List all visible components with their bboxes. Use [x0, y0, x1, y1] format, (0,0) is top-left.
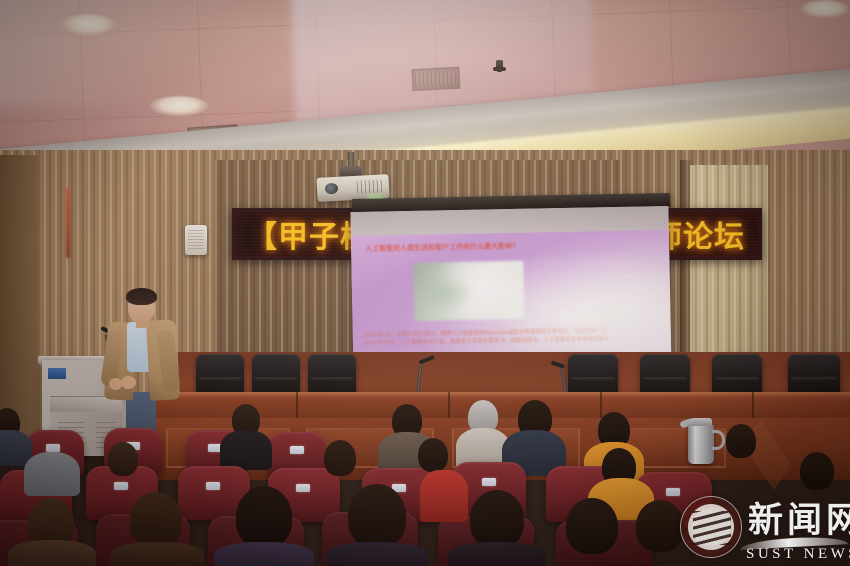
thermos-lid	[690, 418, 712, 426]
speaker-hand-right	[121, 376, 136, 389]
audience-head	[348, 484, 406, 548]
audience-shoulders	[8, 540, 96, 566]
seat-number-plate	[666, 488, 680, 496]
audience-head	[324, 440, 356, 476]
audience-head	[636, 500, 684, 552]
head-table-edge	[150, 392, 850, 398]
thermos-icon	[688, 424, 714, 464]
speaker-hand-left	[109, 378, 122, 390]
audience-shoulders	[110, 542, 204, 566]
audience-shoulders	[24, 452, 80, 496]
speaker-hair	[126, 288, 157, 305]
seat-number-plate	[114, 482, 128, 490]
audience-head	[108, 442, 138, 476]
lecture-hall-photo: 【甲子校庆 导师论坛 人工智能对人类生活和客户工作有什么重大影响？ 2016年3…	[0, 0, 850, 566]
audience-shoulders	[326, 542, 428, 566]
seat-number-plate	[46, 444, 60, 452]
audience-shoulders	[448, 542, 546, 566]
audience-shoulders	[420, 470, 468, 522]
seat-number-plate	[296, 484, 310, 492]
audience-shoulders	[220, 430, 272, 470]
audience-head	[130, 492, 182, 548]
audience-head	[236, 486, 292, 548]
audience-head	[418, 438, 448, 472]
seat-number-plate	[206, 482, 220, 490]
audience-shoulders	[214, 542, 314, 566]
audience-head	[470, 490, 524, 548]
podium-logo-plate	[48, 368, 66, 379]
seat-number-plate	[290, 446, 304, 454]
audience-head	[726, 424, 756, 458]
seat-number-plate	[482, 478, 496, 486]
audience-head	[566, 498, 618, 554]
audience-head	[800, 452, 834, 490]
